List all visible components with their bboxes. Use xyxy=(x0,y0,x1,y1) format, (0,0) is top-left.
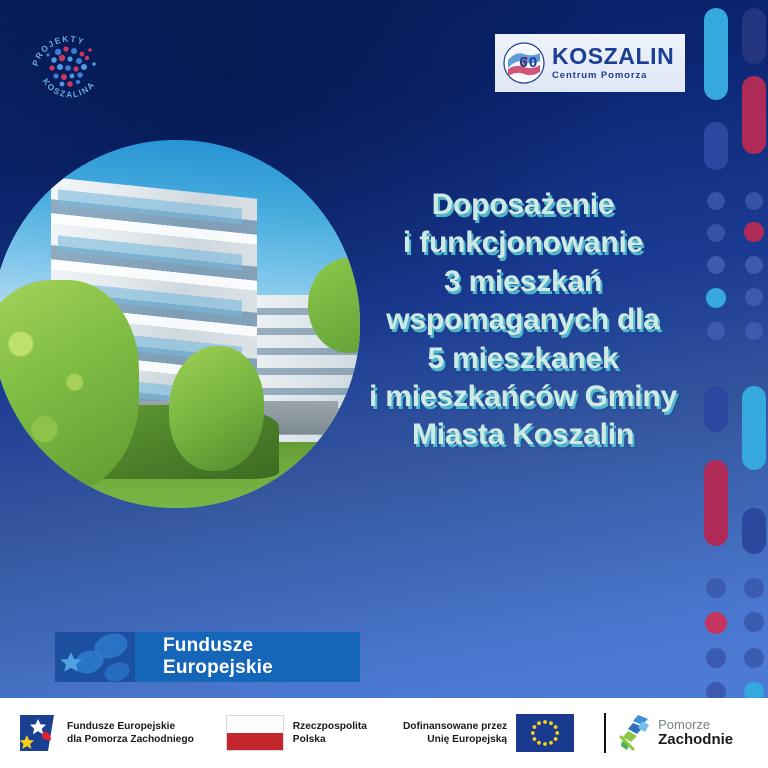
footer-fe-line1: Fundusze Europejskie xyxy=(67,720,194,733)
poland-flag-icon xyxy=(226,715,284,751)
decor-dot-15 xyxy=(706,648,726,668)
decor-pill-1 xyxy=(704,8,728,100)
headline-line: 3 mieszkań xyxy=(352,263,694,301)
decor-pill-6 xyxy=(742,386,766,470)
svg-text:6: 6 xyxy=(519,54,527,71)
koszalin-badge-title: KOSZALIN xyxy=(552,45,674,68)
decor-dot-12 xyxy=(744,578,764,598)
fundusze-europejskie-icon xyxy=(14,711,58,755)
eu-flag-icon xyxy=(516,714,574,752)
decor-dot-5 xyxy=(707,256,725,274)
funding-footer: Fundusze Europejskie dla Pomorza Zachodn… xyxy=(0,698,768,768)
footer-poland-line1: Rzeczpospolita xyxy=(293,720,367,733)
footer-fe-line2: dla Pomorza Zachodniego xyxy=(67,733,194,746)
koszalin-badge-text: KOSZALIN Centrum Pomorza xyxy=(552,45,674,81)
poster-headline: Doposażenie i funkcjonowanie 3 mieszkań … xyxy=(352,186,694,455)
koszalin-brand-badge: 7 0 6 KOSZALIN Centrum Pomorza xyxy=(495,34,685,92)
decor-dot-16 xyxy=(744,648,764,668)
photo-tree-left xyxy=(0,280,139,493)
logo-arc-bottom-text: KOSZALINA xyxy=(41,76,97,99)
decor-pill-8 xyxy=(742,508,766,554)
fe-banner-stars-graphic xyxy=(55,632,135,682)
footer-eu-line1: Dofinansowane przez xyxy=(403,720,507,733)
pz-line2: Zachodnie xyxy=(658,732,733,748)
decor-pill-7 xyxy=(704,460,728,546)
decor-dot-13 xyxy=(705,612,727,634)
headline-line: Miasta Koszalin xyxy=(352,416,694,454)
decor-dot-3 xyxy=(707,224,725,242)
decor-pill-2 xyxy=(742,8,766,64)
footer-poland-text: Rzeczpospolita Polska xyxy=(293,720,367,747)
headline-line: 5 mieszkanek xyxy=(352,340,694,378)
pomorze-zachodnie-icon xyxy=(618,713,652,753)
svg-text:KOSZALINA: KOSZALINA xyxy=(41,76,97,99)
footer-pomorze-zachodnie: Pomorze Zachodnie xyxy=(618,698,733,768)
decor-pill-3 xyxy=(742,76,766,154)
decor-pill-4 xyxy=(704,122,728,170)
decor-dot-6 xyxy=(745,256,763,274)
koszalin-badge-subtitle: Centrum Pomorza xyxy=(552,71,674,81)
decor-dot-7 xyxy=(706,288,726,308)
poster-canvas: PROJEKTY KOSZALINA 7 0 6 KOSZALIN Centru… xyxy=(0,0,768,768)
pz-line1: Pomorze xyxy=(658,718,733,732)
footer-fe-text: Fundusze Europejskie dla Pomorza Zachodn… xyxy=(67,720,194,747)
footer-divider xyxy=(604,713,606,753)
koszalin-760-emblem: 7 0 6 xyxy=(503,42,545,84)
decor-dot-2 xyxy=(745,192,763,210)
headline-line: wspomaganych dla xyxy=(352,301,694,339)
footer-eu-text: Dofinansowane przez Unię Europejską xyxy=(403,720,507,747)
headline-line: i funkcjonowanie xyxy=(352,224,694,262)
footer-dofinansowane-ue: Dofinansowane przez Unię Europejską xyxy=(403,698,574,768)
fundusze-europejskie-banner: Fundusze Europejskie xyxy=(55,632,360,682)
pomorze-zachodnie-text: Pomorze Zachodnie xyxy=(658,718,733,747)
footer-poland-line2: Polska xyxy=(293,733,367,746)
svg-text:0: 0 xyxy=(529,54,537,71)
decor-dot-11 xyxy=(706,578,726,598)
decor-dot-14 xyxy=(744,612,764,632)
apartment-building-photo xyxy=(0,140,360,508)
decorative-dot-column xyxy=(690,0,768,700)
footer-fundusze-europejskie: Fundusze Europejskie dla Pomorza Zachodn… xyxy=(14,698,194,768)
headline-line: Doposażenie xyxy=(352,186,694,224)
fe-banner-label: Fundusze Europejskie xyxy=(163,635,360,679)
decor-pill-5 xyxy=(704,386,728,432)
photo-tree-middle xyxy=(169,346,265,471)
decor-dot-9 xyxy=(707,322,725,340)
decor-dot-8 xyxy=(745,288,763,306)
photo-canvas xyxy=(0,140,360,508)
projekty-koszalina-logo: PROJEKTY KOSZALINA xyxy=(24,22,112,106)
decor-dot-4 xyxy=(744,222,764,242)
decor-dot-10 xyxy=(745,322,763,340)
headline-line: i mieszkańców Gminy xyxy=(352,378,694,416)
footer-rzeczpospolita-polska: Rzeczpospolita Polska xyxy=(226,698,367,768)
decor-dot-1 xyxy=(707,192,725,210)
footer-eu-line2: Unię Europejską xyxy=(403,733,507,746)
